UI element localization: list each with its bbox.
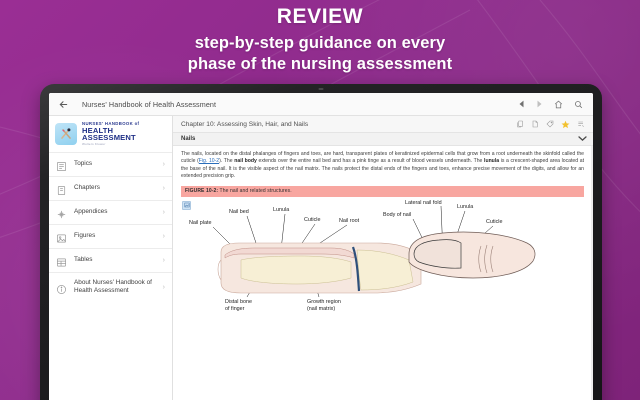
chevron-right-icon: › bbox=[163, 161, 165, 168]
label-growth-region-2: (nail matrix) bbox=[307, 306, 335, 312]
copy-icon[interactable] bbox=[516, 120, 524, 128]
figure-caption-text: The nail and related structures. bbox=[218, 188, 292, 194]
chapter-title: Chapter 10: Assessing Skin, Hair, and Na… bbox=[181, 121, 516, 128]
sidebar-item-label: About Nurses' Handbook of Health Assessm… bbox=[74, 279, 156, 296]
chapter-bar: Chapter 10: Assessing Skin, Hair, and Na… bbox=[173, 116, 593, 133]
figure-link[interactable]: Fig. 10-2 bbox=[199, 158, 219, 164]
sidebar-item-appendices[interactable]: Appendices › bbox=[49, 200, 172, 224]
brand-line-2: HEALTH ASSESSMENT bbox=[82, 127, 166, 143]
sidebar-item-figures[interactable]: Figures › bbox=[49, 224, 172, 248]
search-icon[interactable] bbox=[574, 100, 583, 109]
label-nail-plate: Nail plate bbox=[189, 220, 211, 226]
notes-list-icon[interactable] bbox=[577, 120, 585, 128]
sidebar-item-label: Figures bbox=[74, 232, 156, 240]
label-cuticle-right: Cuticle bbox=[486, 219, 502, 225]
crossed-tools-logo-icon bbox=[55, 123, 77, 145]
label-distal-bone-1: Distal bone bbox=[225, 299, 252, 305]
promo-headline: REVIEW step-by-step guidance on every ph… bbox=[0, 4, 640, 75]
distal-bone-shape bbox=[241, 256, 351, 284]
label-lunula-right: Lunula bbox=[457, 204, 473, 210]
sidebar-item-tables[interactable]: Tables › bbox=[49, 248, 172, 272]
chapters-icon bbox=[56, 183, 67, 194]
term-nail-body: nail body bbox=[234, 158, 257, 164]
previous-page-icon[interactable] bbox=[518, 100, 525, 108]
label-lunula: Lunula bbox=[273, 207, 289, 213]
front-camera bbox=[319, 88, 324, 90]
section-bar: Nails bbox=[173, 133, 593, 146]
chevron-right-icon: › bbox=[163, 284, 165, 291]
appendices-icon bbox=[56, 207, 67, 218]
reader-pane: Chapter 10: Assessing Skin, Hair, and Na… bbox=[173, 116, 593, 400]
article-body: The nails, located on the distal phalang… bbox=[173, 146, 593, 400]
sidebar-item-label: Topics bbox=[74, 160, 156, 168]
paragraph-part-3: extends over the entire nail bed and has… bbox=[257, 158, 484, 164]
fingertip-edge bbox=[218, 260, 221, 280]
sidebar-item-chapters[interactable]: Chapters › bbox=[49, 176, 172, 200]
figure-illustration[interactable]: Nail plate Nail bed Lunula Cuticle Nail … bbox=[181, 200, 584, 318]
tablet-screen: Nurses' Handbook of Health Assessment bbox=[49, 93, 593, 400]
note-page-icon[interactable] bbox=[531, 120, 539, 128]
tag-icon[interactable] bbox=[546, 120, 554, 128]
app-content: NURSES' HANDBOOK of HEALTH ASSESSMENT Wo… bbox=[49, 116, 593, 400]
figures-icon bbox=[56, 231, 67, 242]
chevron-right-icon: › bbox=[163, 233, 165, 240]
scrollbar-track[interactable] bbox=[591, 146, 593, 400]
app-title: Nurses' Handbook of Health Assessment bbox=[82, 100, 216, 109]
brand-text: NURSES' HANDBOOK of HEALTH ASSESSMENT Wo… bbox=[82, 122, 166, 147]
promo-subtitle-line1: step-by-step guidance on every bbox=[0, 33, 640, 54]
body-paragraph: The nails, located on the distal phalang… bbox=[181, 151, 584, 181]
label-lateral-nail-fold: Lateral nail fold bbox=[405, 200, 442, 206]
fingernail-dorsal-diagram: Lateral nail fold Body of nail Lunula Cu… bbox=[381, 194, 556, 294]
label-nail-bed: Nail bed bbox=[229, 209, 249, 215]
reader-tool-icons bbox=[516, 120, 585, 129]
brand-line-3: Wolters Kluwer bbox=[82, 143, 166, 146]
home-icon[interactable] bbox=[554, 100, 563, 109]
tables-icon bbox=[56, 255, 67, 266]
label-body-of-nail: Body of nail bbox=[383, 212, 411, 218]
topics-icon bbox=[56, 159, 67, 170]
label-cuticle: Cuticle bbox=[304, 217, 320, 223]
sidebar-item-about[interactable]: About Nurses' Handbook of Health Assessm… bbox=[49, 272, 172, 302]
tablet-device: Nurses' Handbook of Health Assessment bbox=[40, 84, 602, 400]
navigation-icon-group bbox=[518, 100, 586, 109]
back-arrow-icon[interactable] bbox=[56, 97, 71, 112]
sidebar-item-label: Appendices bbox=[74, 208, 156, 216]
sidebar-item-topics[interactable]: Topics › bbox=[49, 152, 172, 176]
chevron-right-icon: › bbox=[163, 209, 165, 216]
chevron-right-icon: › bbox=[163, 185, 165, 192]
brand-header: NURSES' HANDBOOK of HEALTH ASSESSMENT Wo… bbox=[49, 116, 172, 152]
sidebar-nav-list: Topics › Chapters › Appe bbox=[49, 152, 172, 400]
sidebar-item-label: Chapters bbox=[74, 184, 156, 192]
sidebar-item-label: Tables bbox=[74, 256, 156, 264]
chevron-down-icon[interactable] bbox=[578, 135, 587, 144]
next-page-icon[interactable] bbox=[536, 100, 543, 108]
chevron-right-icon: › bbox=[163, 257, 165, 264]
section-heading: Nails bbox=[181, 136, 195, 142]
star-favorite-icon[interactable] bbox=[561, 120, 570, 129]
term-lunula: lunula bbox=[484, 158, 499, 164]
label-distal-bone-2: of finger bbox=[225, 306, 245, 312]
promo-title: REVIEW bbox=[0, 4, 640, 30]
label-growth-region-1: Growth region bbox=[307, 299, 341, 305]
app-top-bar: Nurses' Handbook of Health Assessment bbox=[49, 93, 593, 116]
figure-caption-label: FIGURE 10-2: bbox=[185, 188, 218, 194]
sidebar: NURSES' HANDBOOK of HEALTH ASSESSMENT Wo… bbox=[49, 116, 173, 400]
info-icon bbox=[56, 282, 67, 293]
promo-subtitle-line2: phase of the nursing assessment bbox=[0, 54, 640, 75]
paragraph-part-2: ). The bbox=[219, 158, 234, 164]
label-nail-root: Nail root bbox=[339, 218, 360, 224]
image-badge-icon bbox=[182, 201, 191, 210]
